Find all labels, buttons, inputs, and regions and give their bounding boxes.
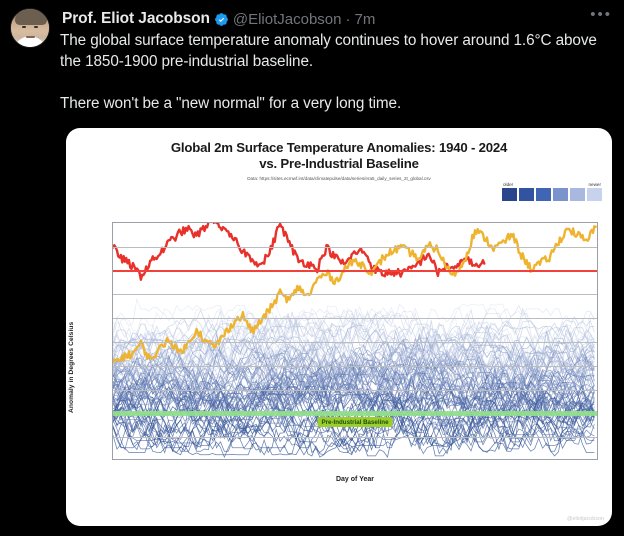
legend-swatch-0	[502, 188, 517, 201]
legend-swatch-row	[502, 188, 602, 201]
plot-area: 2.001.751.501.251.000.750.500.250.00-0.2…	[112, 222, 598, 460]
legend-swatch-3	[553, 188, 568, 201]
y-axis-label: Anomaly in Degrees Celsius	[68, 282, 78, 452]
gridline	[113, 366, 597, 367]
gridline	[113, 437, 597, 438]
gridline	[113, 390, 597, 391]
x-axis-label: Day of Year	[112, 476, 598, 483]
tweet-text: The global surface temperature anomaly c…	[60, 30, 600, 114]
ellipsis-icon[interactable]: •••	[590, 10, 612, 20]
chart-title-line2: vs. Pre-Industrial Baseline	[66, 156, 612, 172]
avatar-eye-right	[34, 26, 38, 28]
legend-label-newer: newer	[588, 182, 601, 187]
chart-title: Global 2m Surface Temperature Anomalies:…	[66, 140, 612, 172]
legend-label-older: older	[503, 182, 513, 187]
display-name[interactable]: Prof. Eliot Jacobson	[62, 10, 210, 28]
timestamp[interactable]: 7m	[354, 11, 375, 28]
legend-swatch-1	[519, 188, 534, 201]
handle[interactable]: @EliotJacobson	[233, 11, 342, 28]
gridline	[113, 318, 597, 319]
separator: ·	[345, 11, 350, 28]
baseline-label: Pre-Industrial Baseline	[317, 417, 392, 427]
chart-title-line1: Global 2m Surface Temperature Anomalies:…	[171, 140, 507, 155]
chart-source-url: Data: https://sites.ecmwf.int/data/clima…	[66, 176, 612, 181]
tweet-screenshot: Prof. Eliot Jacobson @EliotJacobson · 7m…	[0, 0, 624, 536]
avatar-mouth	[26, 36, 35, 38]
avatar[interactable]	[10, 8, 50, 48]
color-legend: older newer	[502, 182, 602, 201]
gridline	[113, 342, 597, 343]
tweet-paragraph-1: The global surface temperature anomaly c…	[60, 30, 600, 72]
author-line: Prof. Eliot Jacobson @EliotJacobson · 7m	[62, 8, 375, 30]
watermark: @eliotjacobson	[567, 516, 604, 522]
legend-swatch-2	[536, 188, 551, 201]
legend-swatch-5	[587, 188, 602, 201]
chart-card[interactable]: Global 2m Surface Temperature Anomalies:…	[66, 128, 612, 526]
tweet-paragraph-2: There won't be a "new normal" for a very…	[60, 93, 600, 114]
baseline-band	[113, 411, 597, 416]
reference-line	[113, 270, 597, 272]
avatar-eye-left	[22, 26, 26, 28]
legend-swatch-4	[570, 188, 585, 201]
plot-area-wrapper: Anomaly in Degrees Celsius 2.001.751.501…	[66, 204, 612, 526]
avatar-hair	[15, 10, 47, 25]
gridline	[113, 247, 597, 248]
gridline	[113, 294, 597, 295]
verified-badge-icon	[214, 12, 229, 27]
